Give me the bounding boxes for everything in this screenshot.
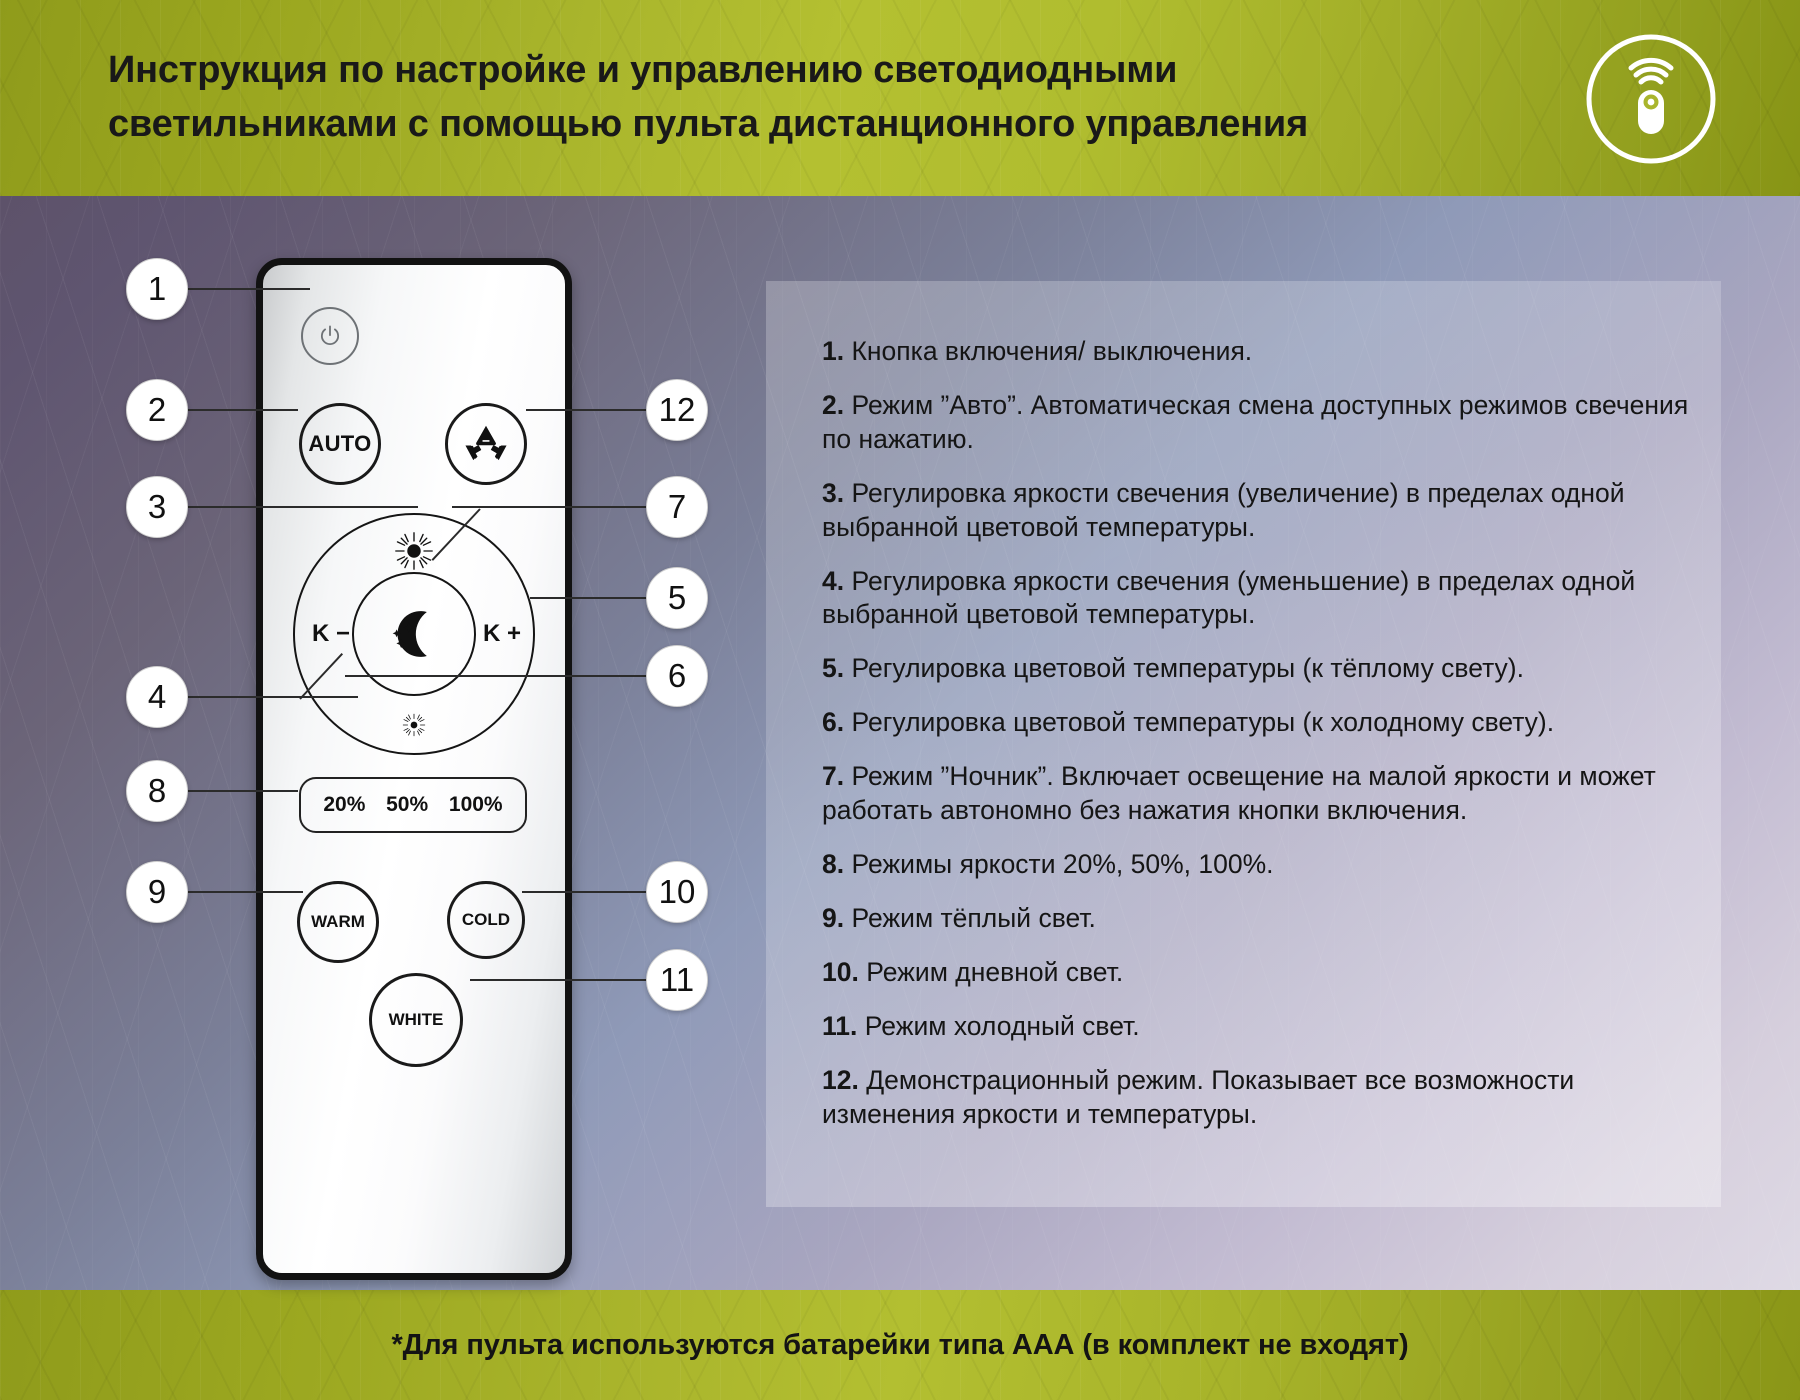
battery-note: *Для пульта используются батарейки типа … <box>391 1329 1408 1362</box>
legend-num: 4. <box>822 566 844 596</box>
callout-10-label: 10 <box>659 873 696 911</box>
list-item: 11. Режим холодный свет. <box>822 1010 1702 1044</box>
demo-button[interactable] <box>445 403 527 485</box>
legend-text: Режим дневной свет. <box>866 957 1123 987</box>
legend-text: Режим ”Авто”. Автоматическая смена досту… <box>822 390 1688 454</box>
callout-12-label: 12 <box>659 391 696 429</box>
list-item: 5. Регулировка цветовой температуры (к т… <box>822 652 1702 686</box>
brightness-up-button[interactable] <box>394 531 434 571</box>
legend-num: 6. <box>822 707 844 737</box>
kelvin-minus-label: K − <box>312 620 350 647</box>
callout-3[interactable]: 3 <box>126 476 188 538</box>
list-item: 10. Режим дневной свет. <box>822 956 1702 990</box>
legend-num: 1. <box>822 336 844 366</box>
callout-6-label: 6 <box>668 657 686 695</box>
callout-1[interactable]: 1 <box>126 258 188 320</box>
remote-control-signal-icon <box>1584 32 1718 166</box>
callout-1-label: 1 <box>148 270 166 308</box>
sun-dim-icon <box>402 713 426 737</box>
warm-button-label: WARM <box>311 912 365 932</box>
cold-button-label: COLD <box>462 910 510 930</box>
kelvin-minus-button[interactable]: K − <box>312 620 350 648</box>
legend-text: Режим холодный свет. <box>865 1011 1140 1041</box>
callout-2[interactable]: 2 <box>126 379 188 441</box>
sun-bright-icon <box>394 531 434 571</box>
brightness-preset-50[interactable]: 50% <box>386 793 428 817</box>
leader-line-7 <box>452 506 646 508</box>
legend-num: 11. <box>822 1011 857 1041</box>
leader-line-11 <box>470 979 648 981</box>
leader-line-9 <box>188 891 303 893</box>
legend-text: Регулировка цветовой температуры (к холо… <box>851 707 1554 737</box>
power-icon <box>317 323 343 349</box>
list-item: 7. Режим ”Ночник”. Включает освещение на… <box>822 760 1702 828</box>
callout-9-label: 9 <box>148 873 166 911</box>
legend-num: 12. <box>822 1065 859 1095</box>
leader-line-5 <box>530 597 648 599</box>
legend-num: 5. <box>822 653 844 683</box>
callout-7[interactable]: 7 <box>646 476 708 538</box>
white-button-label: WHITE <box>389 1010 444 1030</box>
leader-line-8 <box>188 790 298 792</box>
auto-button-label: AUTO <box>308 431 371 457</box>
leader-line-10 <box>522 891 646 893</box>
recycle-demo-icon <box>462 420 510 468</box>
callout-2-label: 2 <box>148 391 166 429</box>
list-item: 6. Регулировка цветовой температуры (к х… <box>822 706 1702 740</box>
callout-5[interactable]: 5 <box>646 567 708 629</box>
header-band: Инструкция по настройке и управлению све… <box>0 0 1800 196</box>
brightness-preset-20[interactable]: 20% <box>323 793 365 817</box>
callout-6[interactable]: 6 <box>646 645 708 707</box>
list-item: 4. Регулировка яркости свечения (уменьше… <box>822 565 1702 633</box>
poster-canvas: Инструкция по настройке и управлению све… <box>0 0 1800 1400</box>
warm-button[interactable]: WARM <box>297 881 379 963</box>
callout-12[interactable]: 12 <box>646 379 708 441</box>
leader-line-6 <box>345 675 650 677</box>
footer-band: *Для пульта используются батарейки типа … <box>0 1290 1800 1400</box>
list-item: 8. Режимы яркости 20%, 50%, 100%. <box>822 848 1702 882</box>
night-mode-button[interactable] <box>352 572 476 696</box>
list-item: 1. Кнопка включения/ выключения. <box>822 335 1702 369</box>
legend-num: 10. <box>822 957 859 987</box>
leader-line-3 <box>188 506 418 508</box>
legend-text: Регулировка цветовой температуры (к тёпл… <box>851 653 1523 683</box>
legend-text: Регулировка яркости свечения (уменьшение… <box>822 566 1635 630</box>
remote-control-body: AUTO <box>256 258 572 1280</box>
callout-11[interactable]: 11 <box>646 949 708 1011</box>
legend-num: 7. <box>822 761 844 791</box>
leader-line-2 <box>188 409 298 411</box>
leader-line-4 <box>188 696 358 698</box>
kelvin-plus-button[interactable]: K + <box>483 620 521 648</box>
moon-stars-icon <box>381 601 447 667</box>
callout-3-label: 3 <box>148 488 166 526</box>
cold-button[interactable]: COLD <box>447 881 525 959</box>
callout-10[interactable]: 10 <box>646 861 708 923</box>
list-item: 12. Демонстрационный режим. Показывает в… <box>822 1064 1702 1132</box>
legend-num: 8. <box>822 849 844 879</box>
callout-4[interactable]: 4 <box>126 666 188 728</box>
legend-text: Режимы яркости 20%, 50%, 100%. <box>851 849 1273 879</box>
callout-8[interactable]: 8 <box>126 760 188 822</box>
page-title: Инструкция по настройке и управлению све… <box>108 44 1438 152</box>
legend-num: 9. <box>822 903 844 933</box>
kelvin-plus-label: K + <box>483 620 521 647</box>
list-item: 9. Режим тёплый свет. <box>822 902 1702 936</box>
brightness-preset-100[interactable]: 100% <box>449 793 503 817</box>
legend-text: Регулировка яркости свечения (увеличение… <box>822 478 1625 542</box>
leader-line-12 <box>526 409 646 411</box>
legend-list: 1. Кнопка включения/ выключения. 2. Режи… <box>822 335 1702 1151</box>
legend-num: 2. <box>822 390 844 420</box>
callout-11-label: 11 <box>660 961 694 999</box>
auto-button[interactable]: AUTO <box>299 403 381 485</box>
white-button[interactable]: WHITE <box>369 973 463 1067</box>
callout-8-label: 8 <box>148 772 166 810</box>
legend-text: Режим ”Ночник”. Включает освещение на ма… <box>822 761 1656 825</box>
legend-text: Демонстрационный режим. Показывает все в… <box>822 1065 1574 1129</box>
leader-line-1 <box>188 288 310 290</box>
legend-num: 3. <box>822 478 844 508</box>
list-item: 2. Режим ”Авто”. Автоматическая смена до… <box>822 389 1702 457</box>
callout-7-label: 7 <box>668 488 686 526</box>
brightness-down-button[interactable] <box>402 713 426 737</box>
callout-9[interactable]: 9 <box>126 861 188 923</box>
legend-text: Кнопка включения/ выключения. <box>851 336 1252 366</box>
control-dial: K − K + <box>293 513 535 755</box>
legend-text: Режим тёплый свет. <box>851 903 1095 933</box>
list-item: 3. Регулировка яркости свечения (увеличе… <box>822 477 1702 545</box>
power-button[interactable] <box>301 307 359 365</box>
callout-4-label: 4 <box>148 678 166 716</box>
brightness-presets-row[interactable]: 20% 50% 100% <box>299 777 527 833</box>
callout-5-label: 5 <box>668 579 686 617</box>
